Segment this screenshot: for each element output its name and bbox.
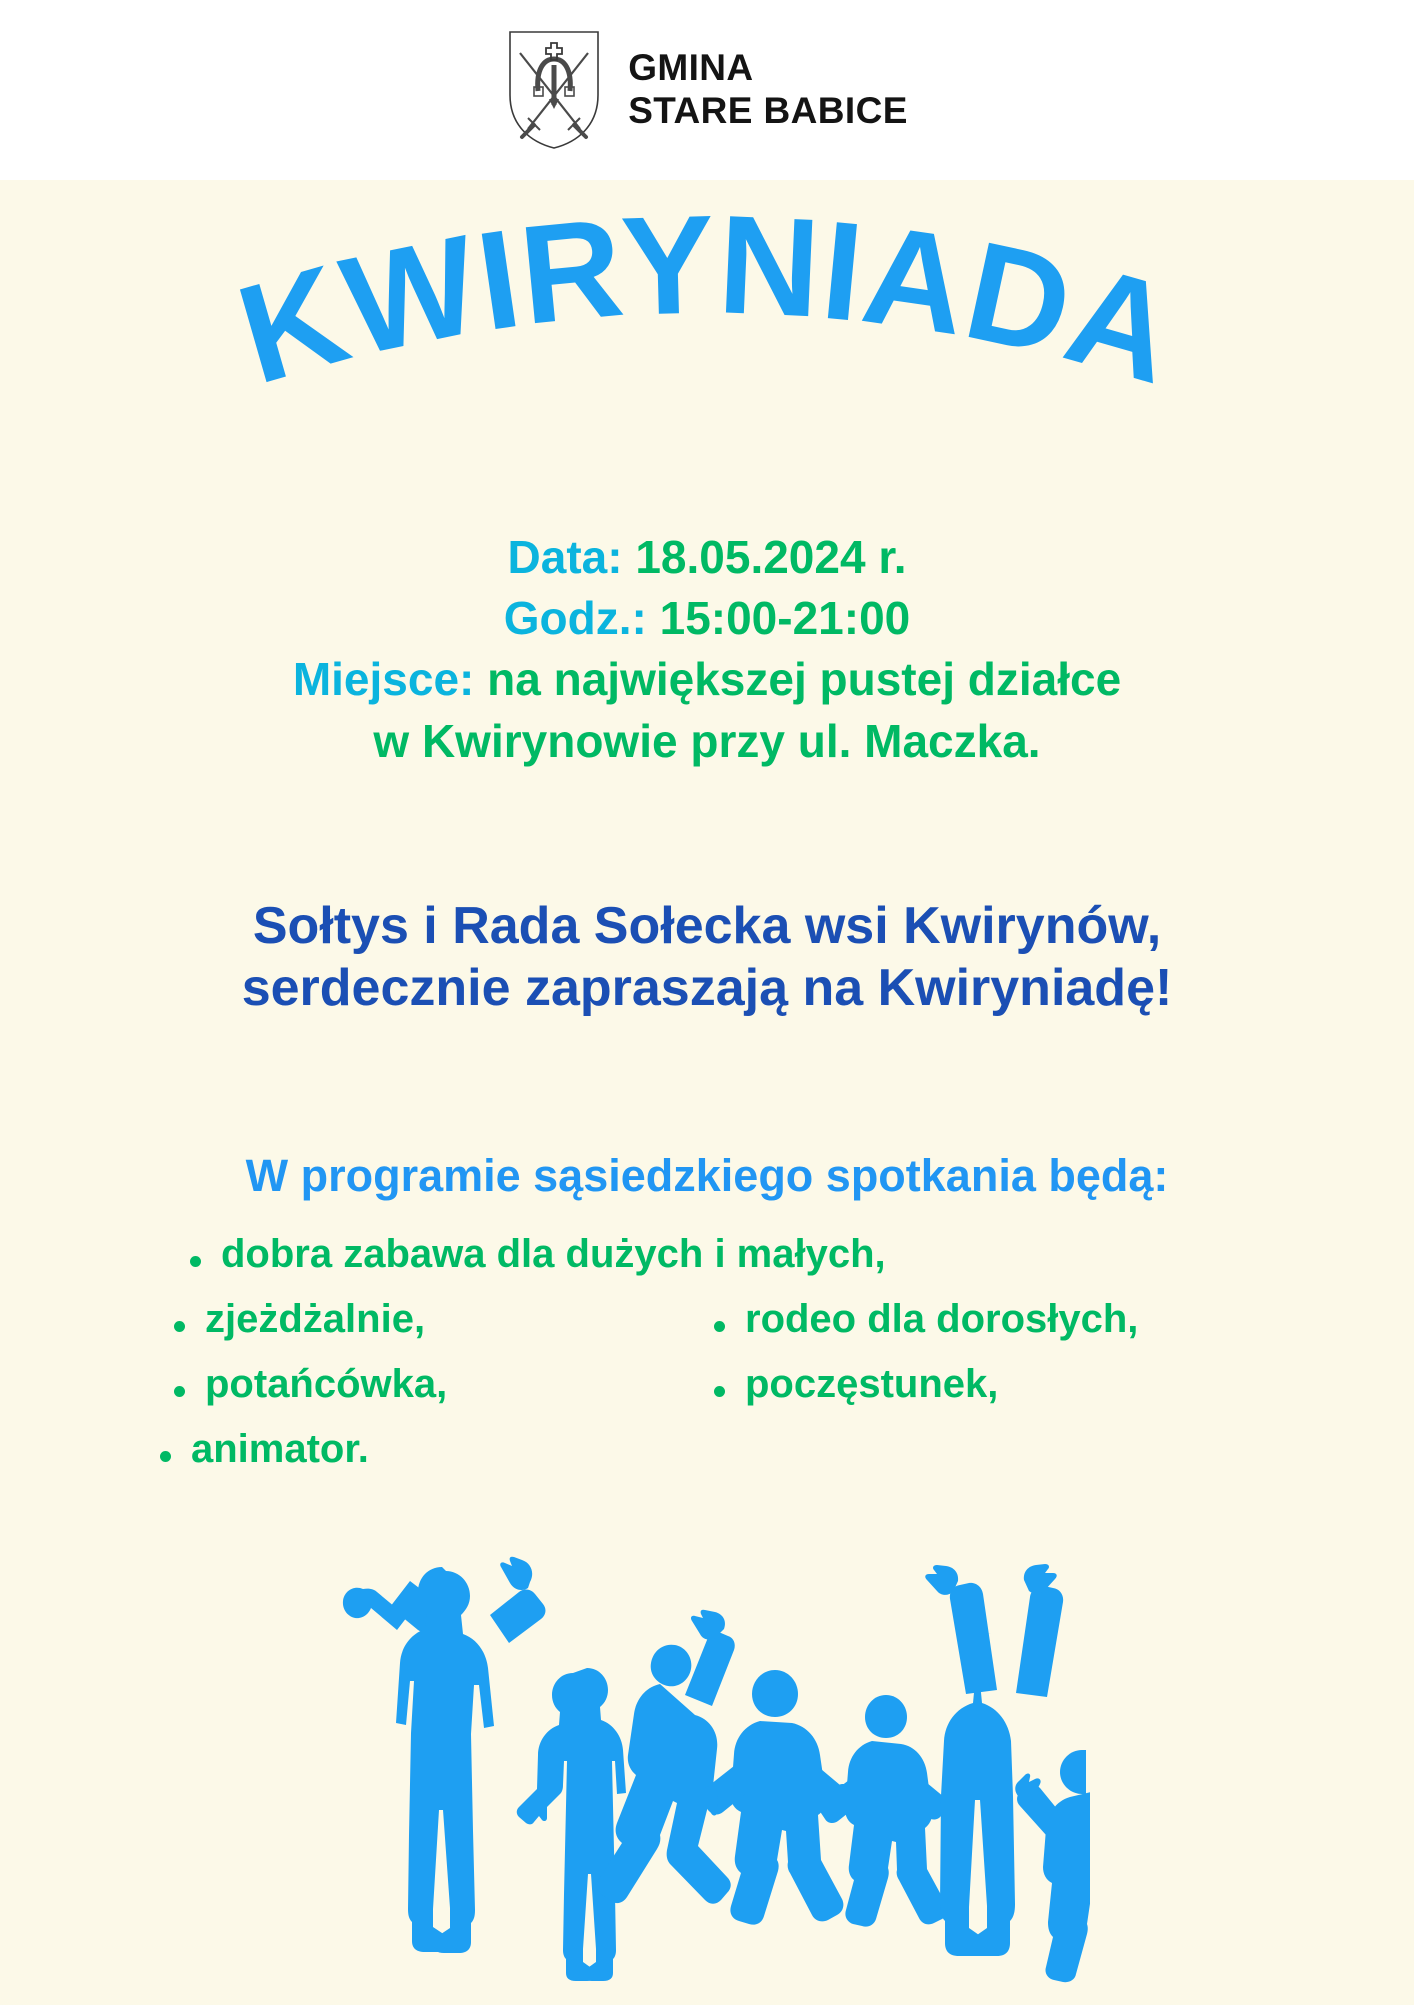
program-heading: W programie sąsiedzkiego spotkania będą:	[0, 1150, 1414, 1202]
list-row: zjeżdżalnie, rodeo dla dorosłych,	[160, 1297, 1290, 1342]
event-place-line: Miejsce: na największej pustej działce	[0, 649, 1414, 710]
bullet-dot-icon	[714, 1321, 725, 1332]
list-item-label: rodeo dla dorosłych,	[745, 1297, 1138, 1342]
list-item: zjeżdżalnie,	[174, 1297, 714, 1342]
time-label: Godz.:	[504, 592, 647, 644]
list-row: potańcówka, poczęstunek,	[160, 1362, 1290, 1407]
place-value: na największej pustej działce	[487, 653, 1121, 705]
organisation-name: GMINA STARE BABICE	[628, 47, 908, 133]
date-label: Data:	[508, 531, 623, 583]
list-item: rodeo dla dorosłych,	[714, 1297, 1254, 1342]
list-item-label: potańcówka,	[205, 1362, 447, 1407]
list-row: dobra zabawa dla dużych i małych,	[160, 1232, 1290, 1277]
event-details: Data: 18.05.2024 r. Godz.: 15:00-21:00 M…	[0, 527, 1414, 772]
invitation-line-2: serdecznie zapraszają na Kwiryniadę!	[0, 957, 1414, 1019]
program-list: dobra zabawa dla dużych i małych, zjeżdż…	[160, 1232, 1290, 1492]
organisation-line-1: GMINA	[628, 47, 908, 90]
place-label: Miejsce:	[293, 653, 475, 705]
event-place-line-2: w Kwirynowie przy ul. Maczka.	[0, 711, 1414, 772]
list-item: potańcówka,	[174, 1362, 714, 1407]
place-value-line2: w Kwirynowie przy ul. Maczka.	[373, 715, 1040, 767]
coat-of-arms-shield-icon	[506, 29, 602, 151]
time-value: 15:00-21:00	[660, 592, 911, 644]
invitation-line-1: Sołtys i Rada Sołecka wsi Kwirynów,	[0, 895, 1414, 957]
bullet-dot-icon	[714, 1386, 725, 1397]
list-item: poczęstunek,	[714, 1362, 1254, 1407]
jumping-people-silhouette-icon	[330, 1545, 1090, 2005]
list-row: animator.	[160, 1427, 1290, 1472]
invitation-block: Sołtys i Rada Sołecka wsi Kwirynów, serd…	[0, 895, 1414, 1020]
arched-title-svg: KWIRYNIADA	[0, 188, 1414, 418]
organisation-line-2: STARE BABICE	[628, 90, 908, 133]
list-item-label: poczęstunek,	[745, 1362, 998, 1407]
list-item: animator.	[160, 1427, 700, 1472]
event-time-line: Godz.: 15:00-21:00	[0, 588, 1414, 649]
list-item-label: animator.	[191, 1427, 369, 1472]
event-date-line: Data: 18.05.2024 r.	[0, 527, 1414, 588]
poster-title: KWIRYNIADA	[0, 188, 1414, 418]
site-header: GMINA STARE BABICE	[0, 0, 1414, 180]
bullet-dot-icon	[174, 1386, 185, 1397]
title-text: KWIRYNIADA	[222, 185, 1192, 413]
bullet-dot-icon	[174, 1321, 185, 1332]
silhouette-svg	[330, 1545, 1090, 2005]
date-value: 18.05.2024 r.	[635, 531, 906, 583]
bullet-dot-icon	[190, 1256, 201, 1267]
bullet-dot-icon	[160, 1451, 171, 1462]
list-item: dobra zabawa dla dużych i małych,	[190, 1232, 1290, 1277]
list-item-label: zjeżdżalnie,	[205, 1297, 425, 1342]
list-item-label: dobra zabawa dla dużych i małych,	[221, 1232, 886, 1277]
